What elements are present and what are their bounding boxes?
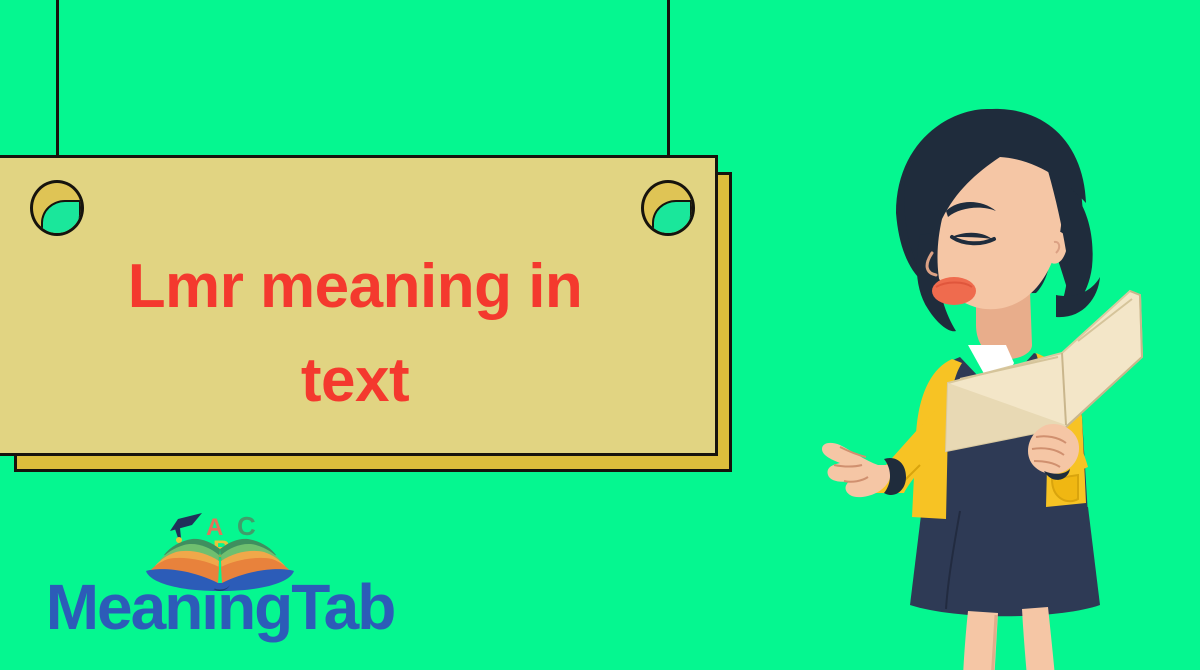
brand-logo[interactable]: A B C MeaningTa [10, 505, 430, 650]
sign-ring-right-icon [641, 180, 695, 236]
hero-banner: Lmr meaning in text A B C [0, 0, 1200, 670]
svg-text:C: C [237, 511, 256, 541]
sign-ring-left-icon [30, 180, 84, 236]
page-title-line-1: Lmr meaning in [32, 240, 678, 334]
woman-reading-book-illustration [800, 95, 1160, 670]
brand-wordmark: MeaningTab [10, 575, 430, 639]
page-title-line-2: text [32, 334, 678, 428]
page-title: Lmr meaning in text [0, 240, 718, 428]
